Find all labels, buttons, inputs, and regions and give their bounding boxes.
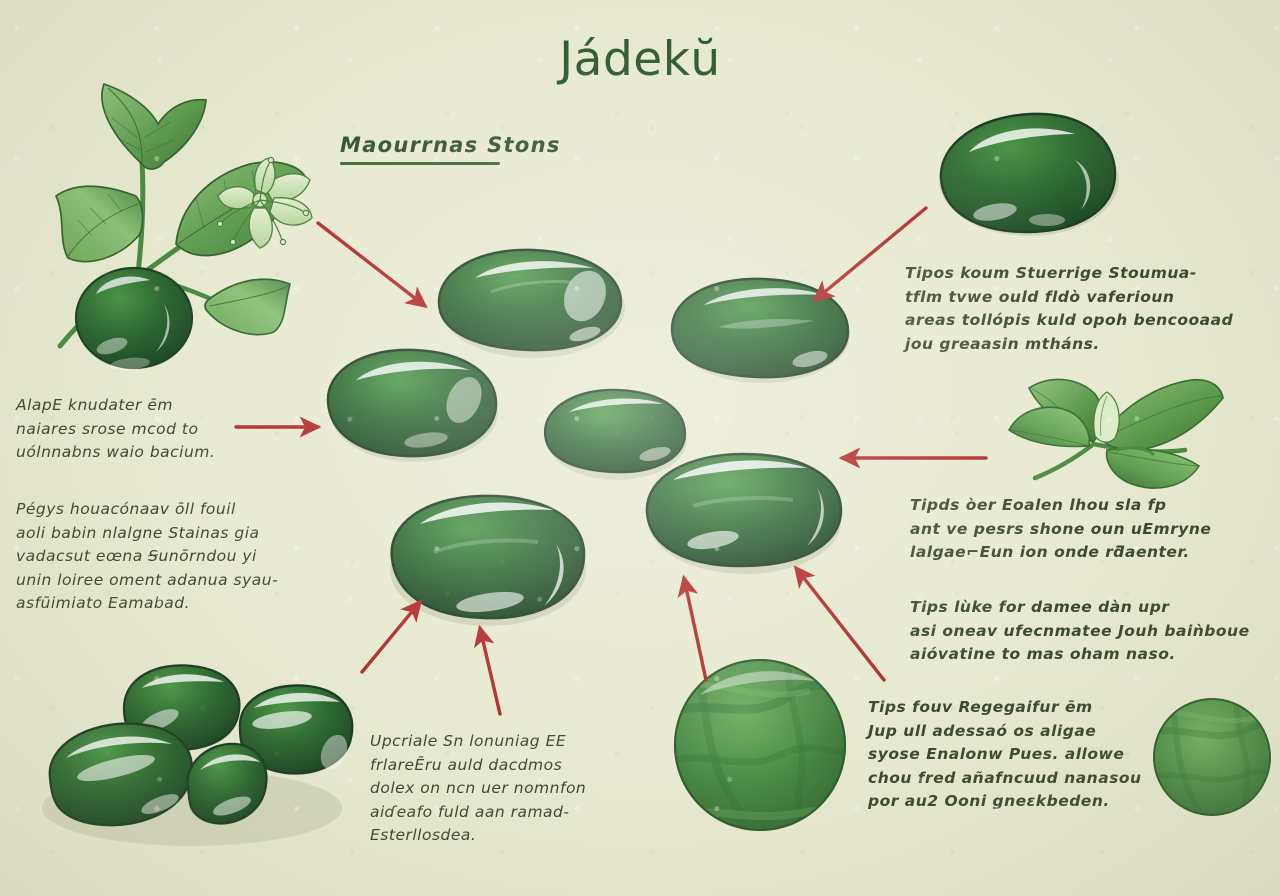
note-bottom-center: Upcriale Sn lonuniag EE frlareĒru auld d… bbox=[370, 730, 630, 848]
subtitle-block: Maourrnas Stons bbox=[340, 133, 561, 165]
note-left-lower: Pégys houacónaav ōll fouil aoli babin nl… bbox=[16, 498, 336, 616]
note-left-upper: AlapE knudater ēm naiares srose mcod to … bbox=[16, 394, 246, 465]
page-title: Jádekŭ bbox=[0, 32, 1280, 87]
stone-right-lower bbox=[635, 440, 855, 580]
note-right-bottom: Tips fouv Regegaifur ēm Jup ull adessaó … bbox=[868, 696, 1198, 814]
botanical-leaf-cluster-illustration bbox=[995, 358, 1255, 500]
subtitle-underline bbox=[340, 162, 500, 165]
arrow-branch-to-stone bbox=[318, 223, 425, 306]
texture-inset-large bbox=[670, 655, 850, 835]
stone-top-right bbox=[925, 108, 1125, 238]
arrow-bottomnote-to-large-stone bbox=[480, 628, 500, 714]
note-right-lower: Tips lùke for damee dàn upr asi oneav uf… bbox=[910, 596, 1272, 667]
note-right-mid: Tipds òer Eoalen lhou sla fp ant ve pesr… bbox=[910, 494, 1270, 565]
stone-middle-left bbox=[318, 338, 508, 468]
subtitle: Maourrnas Stons bbox=[340, 133, 561, 157]
note-top-right: Tipos koum Stuerrige Stoumua- tflm tvwe … bbox=[905, 262, 1265, 356]
stone-upper-center-right bbox=[660, 265, 860, 390]
stone-cluster-bottom-left bbox=[32, 658, 362, 853]
stone-large-bottom-center bbox=[378, 482, 598, 632]
illustration-page: Jádekŭ Maourrnas Stons Tipos koum Stuerr… bbox=[0, 0, 1280, 896]
botanical-branch-illustration bbox=[38, 78, 328, 388]
